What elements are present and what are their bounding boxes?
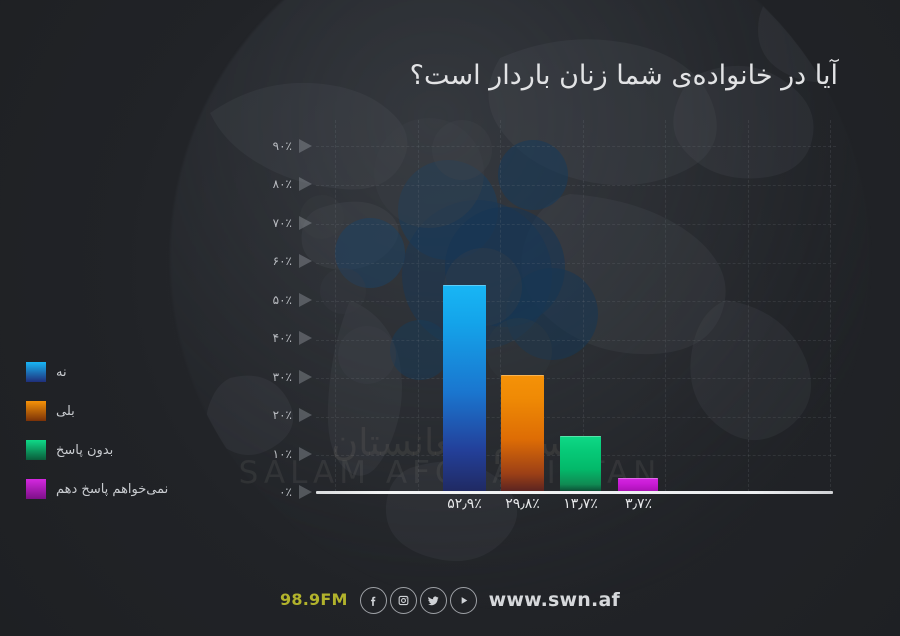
facebook-icon[interactable] xyxy=(360,587,387,614)
x-axis-line xyxy=(316,491,833,494)
twitter-icon[interactable] xyxy=(420,587,447,614)
chart-legend: نه بلی بدون پاسخ نمی‌خواهم پاسخ دهم xyxy=(26,362,226,518)
legend-item-no[interactable]: نه xyxy=(26,362,226,382)
poll-chart-slide: سلام افغانستان SALAM AFGHANISTAN آیا در … xyxy=(0,0,900,636)
legend-label: نمی‌خواهم پاسخ دهم xyxy=(56,483,168,496)
legend-swatch-magenta xyxy=(26,479,46,499)
bar-value-label: ۵۲٫۹٪ xyxy=(431,497,498,511)
instagram-icon[interactable] xyxy=(390,587,417,614)
bar-no[interactable] xyxy=(443,285,486,491)
legend-item-yes[interactable]: بلی xyxy=(26,401,226,421)
legend-label: نه xyxy=(56,366,67,379)
legend-swatch-blue xyxy=(26,362,46,382)
website-label: www.swn.af xyxy=(489,591,620,610)
bar-plot-area: ۵۲٫۹٪ ۲۹٫۸٪ ۱۳٫۷٪ ۳٫۷٪ xyxy=(0,0,900,636)
legend-item-prefer-not-to-answer[interactable]: نمی‌خواهم پاسخ دهم xyxy=(26,479,226,499)
footer-bar: 98.9FM xyxy=(0,586,900,614)
legend-item-no-answer[interactable]: بدون پاسخ xyxy=(26,440,226,460)
bar-value-label: ۲۹٫۸٪ xyxy=(489,497,556,511)
legend-swatch-green xyxy=(26,440,46,460)
bar-value-label: ۱۳٫۷٪ xyxy=(547,497,614,511)
radio-frequency-label: 98.9FM xyxy=(280,592,348,608)
bar-yes[interactable] xyxy=(501,375,544,491)
social-links xyxy=(360,587,477,614)
legend-label: بلی xyxy=(56,405,75,418)
legend-swatch-orange xyxy=(26,401,46,421)
legend-label: بدون پاسخ xyxy=(56,444,113,457)
bar-no-answer[interactable] xyxy=(560,436,601,491)
youtube-icon[interactable] xyxy=(450,587,477,614)
bar-prefer-not-to-answer[interactable] xyxy=(618,478,658,491)
bar-value-label: ۳٫۷٪ xyxy=(605,497,672,511)
